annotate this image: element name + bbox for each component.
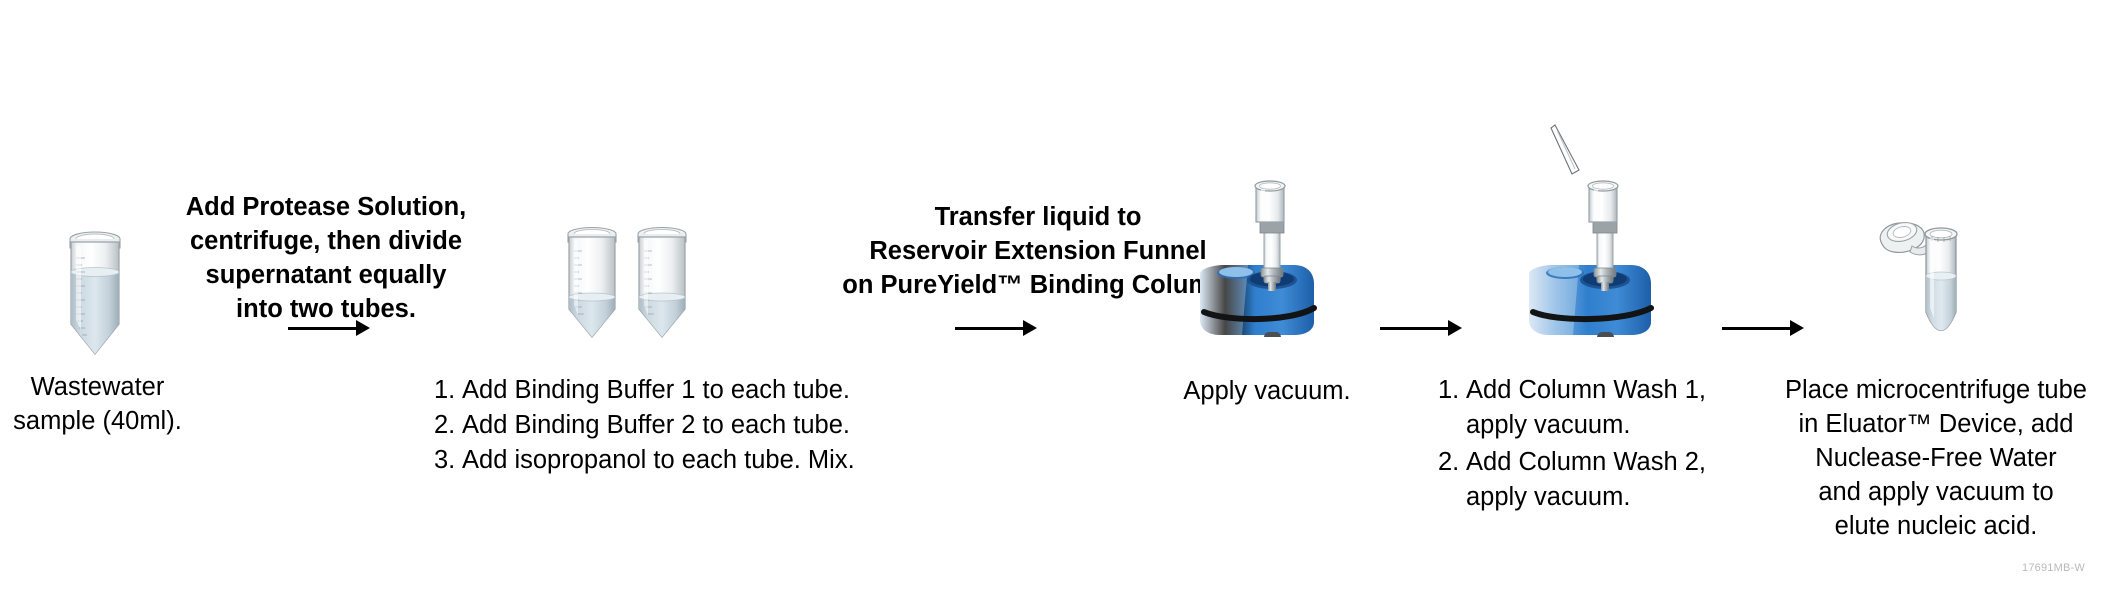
step-3-caption: Apply vacuum. <box>1152 374 1382 408</box>
list-item-number: 3. <box>434 443 462 478</box>
list-item-number: 2. <box>434 408 462 443</box>
list-item-text: Add Binding Buffer 2 to each tube. <box>462 408 864 443</box>
two-conical-tubes-icon <box>563 225 693 355</box>
list-item-text: Add Binding Buffer 1 to each tube. <box>462 373 864 408</box>
workflow-diagram: Wastewater sample (40ml). Add Protease S… <box>0 0 2106 600</box>
list-item: 2. Add Column Wash 2, apply vacuum. <box>1438 445 1738 515</box>
microcentrifuge-tube-open-cap-icon <box>1862 208 1992 358</box>
list-item: 1. Add Binding Buffer 1 to each tube. <box>434 373 864 408</box>
step-4-list: 1. Add Column Wash 1, apply vacuum. 2. A… <box>1438 373 1738 515</box>
arrow-3 <box>1380 320 1462 336</box>
step-1-caption: Wastewater sample (40ml). <box>0 370 195 438</box>
step-2-instruction: Add Protease Solution, centrifuge, then … <box>178 190 474 326</box>
vacuum-manifold-column-with-pipette-icon <box>1527 122 1677 342</box>
list-item-text: Add isopropanol to each tube. Mix. <box>462 443 864 478</box>
list-item-text: Add Column Wash 2, apply vacuum. <box>1466 445 1738 515</box>
list-item: 1. Add Column Wash 1, apply vacuum. <box>1438 373 1738 443</box>
list-item-text: Add Column Wash 1, apply vacuum. <box>1466 373 1738 443</box>
step-5-caption: Place microcentrifuge tube in Eluator™ D… <box>1766 373 2106 543</box>
list-item-number: 1. <box>434 373 462 408</box>
list-item-number: 1. <box>1438 373 1466 408</box>
list-item-number: 2. <box>1438 445 1466 480</box>
list-item: 3. Add isopropanol to each tube. Mix. <box>434 443 864 478</box>
arrow-4 <box>1722 320 1804 336</box>
step-2-list: 1. Add Binding Buffer 1 to each tube. 2.… <box>434 373 864 478</box>
arrow-2 <box>955 320 1037 336</box>
conical-tube-50ml-icon <box>62 228 128 360</box>
list-item: 2. Add Binding Buffer 2 to each tube. <box>434 408 864 443</box>
figure-code: 17691MB-W <box>2022 562 2085 574</box>
vacuum-manifold-column-icon <box>1198 172 1333 342</box>
